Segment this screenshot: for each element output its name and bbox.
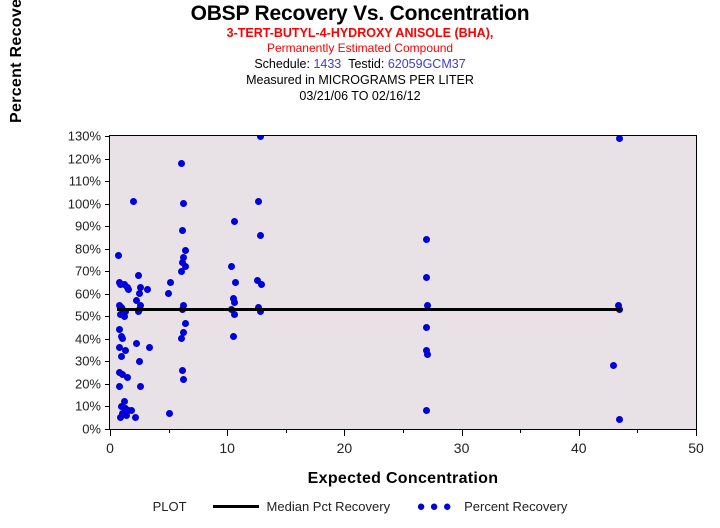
data-point	[424, 351, 431, 358]
legend-label-median: Median Pct Recovery	[267, 499, 391, 514]
y-axis-title: Percent Recovery	[8, 0, 26, 168]
data-point	[119, 335, 126, 342]
x-tick	[110, 429, 111, 436]
data-point	[230, 333, 237, 340]
y-tick-label: 110%	[69, 174, 101, 189]
data-point	[117, 414, 124, 421]
data-point	[423, 407, 430, 414]
title-block: OBSP Recovery Vs. Concentration 3-TERT-B…	[0, 2, 720, 104]
legend-item-points: ●●● Percent Recovery	[416, 499, 567, 514]
data-point	[144, 286, 151, 293]
x-axis-title: Expected Concentration	[109, 470, 697, 488]
data-point	[180, 200, 187, 207]
x-tick	[579, 429, 580, 436]
median-line	[117, 308, 621, 311]
x-tick-minor	[403, 429, 404, 433]
data-point	[166, 410, 173, 417]
x-tick-label: 40	[571, 440, 587, 456]
data-point	[136, 358, 143, 365]
data-point	[116, 383, 123, 390]
data-point	[178, 160, 185, 167]
compound-status: Permanently Estimated Compound	[0, 41, 720, 56]
data-point	[231, 218, 238, 225]
data-point	[610, 362, 617, 369]
data-point	[118, 353, 125, 360]
data-point	[258, 281, 265, 288]
y-tick-label: 60%	[75, 286, 101, 301]
x-tick-label: 20	[337, 440, 353, 456]
x-tick	[344, 429, 345, 436]
x-tick-label: 50	[688, 440, 704, 456]
data-point	[257, 136, 264, 140]
y-tick-label: 0%	[82, 422, 101, 437]
data-point	[182, 320, 189, 327]
x-tick	[462, 429, 463, 436]
legend-line-swatch	[213, 505, 259, 508]
x-tick	[227, 429, 228, 436]
y-tick-label: 10%	[75, 399, 101, 414]
data-point	[115, 252, 122, 259]
x-tick	[696, 429, 697, 436]
data-point	[133, 340, 140, 347]
data-point	[179, 367, 186, 374]
y-tick-label: 20%	[75, 376, 101, 391]
data-point	[124, 374, 131, 381]
data-point	[616, 416, 623, 423]
y-tick-label: 80%	[75, 241, 101, 256]
legend-item-median: Median Pct Recovery	[213, 499, 391, 514]
data-point	[132, 414, 139, 421]
data-point	[423, 324, 430, 331]
schedule-value: 1433	[313, 57, 341, 71]
data-point	[178, 335, 185, 342]
data-point	[180, 376, 187, 383]
testid-value: 62059GCM37	[388, 57, 466, 71]
data-point	[231, 311, 238, 318]
data-point	[423, 236, 430, 243]
schedule-label: Schedule:	[254, 57, 310, 71]
y-tick-label: 50%	[75, 309, 101, 324]
y-tick-label: 100%	[68, 196, 101, 211]
data-point	[232, 279, 239, 286]
x-tick-label: 0	[106, 440, 114, 456]
plot-area: 0%10%20%30%40%50%60%70%80%90%100%110%120…	[109, 135, 697, 430]
data-point	[165, 290, 172, 297]
schedule-testid-line: Schedule: 1433 Testid: 62059GCM37	[0, 56, 720, 72]
legend-prefix: PLOT	[153, 499, 187, 514]
x-tick-minor	[286, 429, 287, 433]
data-point	[167, 279, 174, 286]
x-tick-minor	[637, 429, 638, 433]
data-point	[178, 268, 185, 275]
legend-dots-swatch: ●●●	[416, 499, 456, 514]
x-tick-label: 10	[219, 440, 235, 456]
y-tick-label: 90%	[75, 219, 101, 234]
y-tick-label: 130%	[68, 129, 101, 144]
x-tick-minor	[169, 429, 170, 433]
x-tick-label: 30	[454, 440, 470, 456]
page-title: OBSP Recovery Vs. Concentration	[0, 2, 720, 26]
y-tick-label: 120%	[68, 151, 101, 166]
y-tick-label: 70%	[75, 264, 101, 279]
data-point	[130, 198, 137, 205]
data-point	[135, 272, 142, 279]
y-tick-label: 30%	[75, 354, 101, 369]
x-tick-minor	[520, 429, 521, 433]
date-range: 03/21/06 TO 02/16/12	[0, 88, 720, 104]
data-point	[228, 263, 235, 270]
data-point	[423, 274, 430, 281]
scatter-points-layer	[110, 136, 696, 429]
units-line: Measured in MICROGRAMS PER LITER	[0, 72, 720, 88]
data-point	[146, 344, 153, 351]
compound-name: 3-TERT-BUTYL-4-HYDROXY ANISOLE (BHA),	[0, 26, 720, 41]
legend-label-points: Percent Recovery	[464, 499, 567, 514]
y-tick-label: 40%	[75, 331, 101, 346]
data-point	[121, 313, 128, 320]
data-point	[137, 383, 144, 390]
chart-page: OBSP Recovery Vs. Concentration 3-TERT-B…	[0, 0, 720, 528]
testid-label: Testid:	[348, 57, 384, 71]
data-point	[257, 232, 264, 239]
data-point	[616, 136, 623, 142]
data-point	[125, 286, 132, 293]
data-point	[179, 227, 186, 234]
data-point	[255, 198, 262, 205]
chart-legend: PLOT Median Pct Recovery ●●● Percent Rec…	[0, 499, 720, 514]
